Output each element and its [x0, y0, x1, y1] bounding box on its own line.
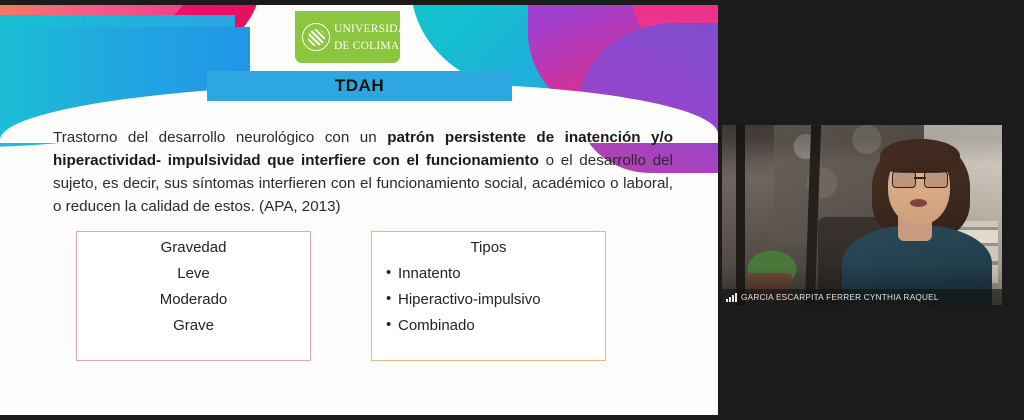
- tipos-box: Tipos Innatento Hiperactivo-impulsivo Co…: [371, 231, 606, 361]
- universidad-de-colima-logo: UNIVERSIDAD DE COLIMA: [295, 11, 400, 63]
- gravedad-item: Grave: [77, 317, 310, 334]
- tipos-list: Innatento Hiperactivo-impulsivo Combinad…: [372, 265, 605, 334]
- tipos-item: Combinado: [386, 317, 605, 334]
- seal-emblem-icon: [308, 29, 325, 46]
- gravedad-box: Gravedad Leve Moderado Grave: [76, 231, 311, 361]
- gravedad-item: Moderado: [77, 291, 310, 308]
- decorative-wave-teal: [0, 15, 235, 85]
- signal-bars-icon: [726, 293, 737, 302]
- university-seal-icon: [302, 23, 330, 51]
- decorative-blob-orange: [0, 5, 200, 70]
- body-text-pre: Trastorno del desarrollo neurológico con…: [53, 129, 387, 146]
- participant-name: GARCIA ESCARPITA FERRER CYNTHIA RAQUEL: [741, 293, 939, 302]
- slide-title-bar: TDAH: [207, 71, 512, 101]
- participant-video-tile[interactable]: GARCIA ESCARPITA FERRER CYNTHIA RAQUEL: [722, 125, 1002, 305]
- slide-title: TDAH: [335, 76, 384, 96]
- participant-name-strip: GARCIA ESCARPITA FERRER CYNTHIA RAQUEL: [722, 289, 1002, 305]
- slide-body-text: Trastorno del desarrollo neurológico con…: [53, 126, 673, 218]
- decorative-blob-magenta: [628, 5, 718, 70]
- decorative-blob-purple: [528, 5, 718, 125]
- tipos-item: Innatento: [386, 265, 605, 282]
- logo-line-1: UNIVERSIDAD: [334, 23, 415, 35]
- video-vignette: [722, 125, 1002, 305]
- tipos-heading: Tipos: [372, 239, 605, 256]
- gravedad-heading: Gravedad: [77, 239, 310, 256]
- tipos-item: Hiperactivo-impulsivo: [386, 291, 605, 308]
- gravedad-item: Leve: [77, 265, 310, 282]
- logo-text: UNIVERSIDAD DE COLIMA: [334, 20, 415, 53]
- logo-line-2: DE COLIMA: [334, 40, 399, 52]
- shared-slide[interactable]: UNIVERSIDAD DE COLIMA TDAH Trastorno del…: [0, 5, 718, 415]
- meeting-screen: UNIVERSIDAD DE COLIMA TDAH Trastorno del…: [0, 0, 1024, 420]
